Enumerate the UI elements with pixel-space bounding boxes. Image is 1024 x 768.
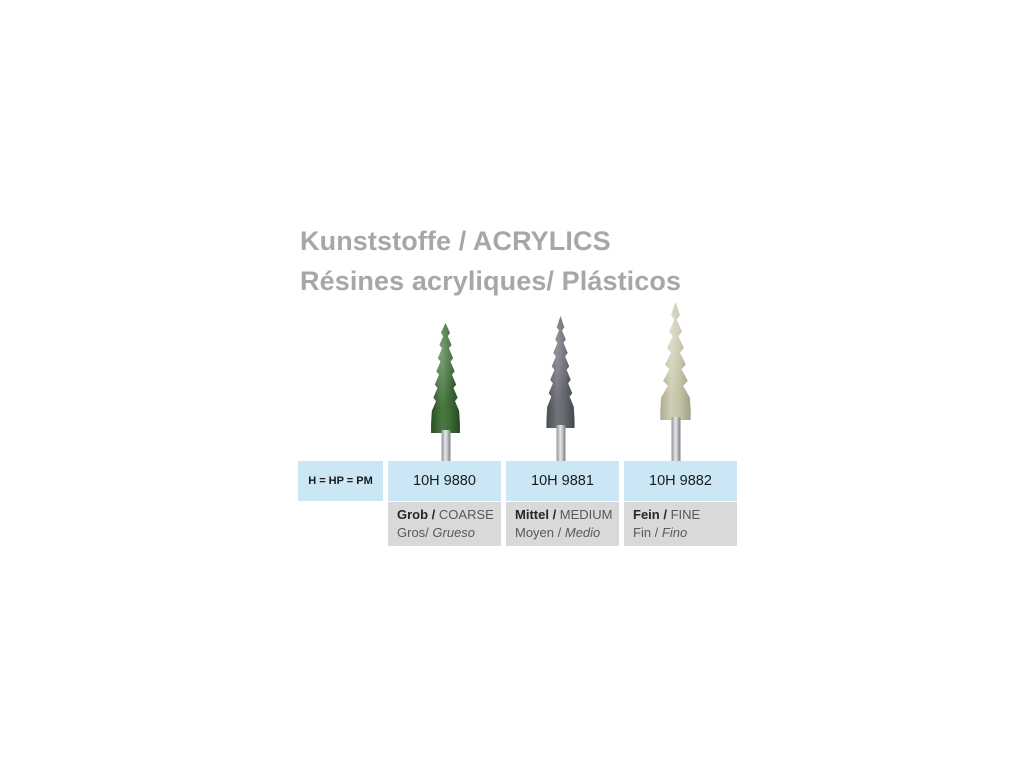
grit-label-fr: Moyen / bbox=[515, 525, 565, 540]
grit-label-en: FINE bbox=[671, 507, 701, 522]
product-specification-table: H = HP = PM 10H 9880 10H 9881 10H 9882 G… bbox=[298, 461, 737, 546]
grit-label-de: Fein bbox=[633, 507, 660, 522]
title-line-de-en: Kunststoffe / ACRYLICS bbox=[300, 221, 770, 261]
grit-separator: / bbox=[660, 507, 671, 522]
order-code-medium: 10H 9881 bbox=[531, 473, 594, 489]
grit-line-de-en: Grob / COARSE bbox=[397, 506, 494, 524]
grit-label-fr: Gros/ bbox=[397, 525, 432, 540]
medium-acrylic-flame-bur bbox=[503, 300, 618, 475]
page-title: Kunststoffe / ACRYLICS Résines acrylique… bbox=[300, 221, 770, 301]
grit-label-en: COARSE bbox=[439, 507, 494, 522]
order-code-coarse: 10H 9880 bbox=[413, 473, 476, 489]
fine-acrylic-flame-bur bbox=[618, 300, 733, 475]
grit-label-es: Medio bbox=[565, 525, 600, 540]
shank-type-label: H = HP = PM bbox=[308, 475, 373, 487]
abrasive-head-coarse-icon bbox=[427, 323, 465, 433]
order-code-cell-coarse: 10H 9880 bbox=[388, 461, 501, 501]
order-code-cell-fine: 10H 9882 bbox=[624, 461, 737, 501]
shank-type-cell: H = HP = PM bbox=[298, 461, 383, 501]
coarse-acrylic-flame-bur bbox=[388, 300, 503, 475]
grit-line-fr-es: Moyen / Medio bbox=[515, 524, 600, 542]
grit-row-spacer bbox=[298, 502, 383, 546]
abrasive-head-medium-icon bbox=[542, 316, 580, 428]
table-row-codes: H = HP = PM 10H 9880 10H 9881 10H 9882 bbox=[298, 461, 737, 501]
grit-label-es: Grueso bbox=[432, 525, 475, 540]
grit-cell-coarse: Grob / COARSE Gros/ Grueso bbox=[388, 502, 501, 546]
grit-line-de-en: Mittel / MEDIUM bbox=[515, 506, 613, 524]
grit-separator: / bbox=[549, 507, 560, 522]
title-line-fr-es: Résines acryliques/ Plásticos bbox=[300, 261, 770, 301]
grit-line-fr-es: Fin / Fino bbox=[633, 524, 687, 542]
grit-cell-medium: Mittel / MEDIUM Moyen / Medio bbox=[506, 502, 619, 546]
grit-label-de: Mittel bbox=[515, 507, 549, 522]
grit-label-es: Fino bbox=[662, 525, 687, 540]
table-row-grit: Grob / COARSE Gros/ Grueso Mittel / MEDI… bbox=[298, 502, 737, 546]
order-code-fine: 10H 9882 bbox=[649, 473, 712, 489]
order-code-cell-medium: 10H 9881 bbox=[506, 461, 619, 501]
grit-line-fr-es: Gros/ Grueso bbox=[397, 524, 475, 542]
grit-label-fr: Fin / bbox=[633, 525, 662, 540]
product-image-strip bbox=[388, 300, 733, 475]
grit-line-de-en: Fein / FINE bbox=[633, 506, 700, 524]
grit-label-de: Grob bbox=[397, 507, 428, 522]
grit-separator: / bbox=[428, 507, 439, 522]
grit-label-en: MEDIUM bbox=[560, 507, 613, 522]
grit-cell-fine: Fein / FINE Fin / Fino bbox=[624, 502, 737, 546]
abrasive-head-fine-icon bbox=[656, 302, 696, 420]
